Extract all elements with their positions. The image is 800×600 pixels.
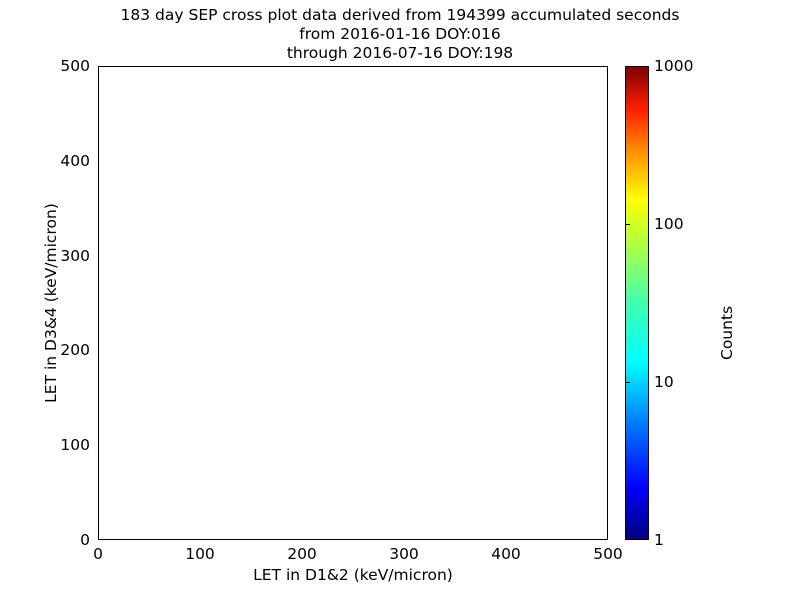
plot-title-line-1: 183 day SEP cross plot data derived from… [0,6,800,25]
x-tick-label-200: 200 [287,545,317,563]
colorbar-tick-label-100: 100 [654,215,684,233]
plot-title-line-2: from 2016-01-16 DOY:016 [0,25,800,44]
x-axis-label: LET in D1&2 (keV/micron) [98,566,608,584]
x-tick-label-100: 100 [185,545,215,563]
x-tick-label-0: 0 [93,545,103,563]
y-axis-label: LET in D3&4 (keV/micron) [42,66,60,540]
x-tick-label-400: 400 [491,545,521,563]
colorbar-tick-mark-10 [625,382,630,383]
colorbar-tick-mark-100 [625,224,630,225]
plot-title: 183 day SEP cross plot data derived from… [0,6,800,63]
colorbar-tick-label-10: 10 [654,373,674,391]
colorbar-gradient [625,66,649,540]
colorbar-tick-label-1000: 1000 [654,57,693,75]
x-tick-label-300: 300 [389,545,419,563]
colorbar-tick-label-1: 1 [654,531,664,549]
colorbar [625,66,649,540]
figure-canvas: 183 day SEP cross plot data derived from… [0,0,800,600]
colorbar-label: Counts [718,306,736,360]
plot-axes-area [98,66,608,540]
plot-frame-border [98,66,608,540]
x-tick-label-500: 500 [593,545,623,563]
